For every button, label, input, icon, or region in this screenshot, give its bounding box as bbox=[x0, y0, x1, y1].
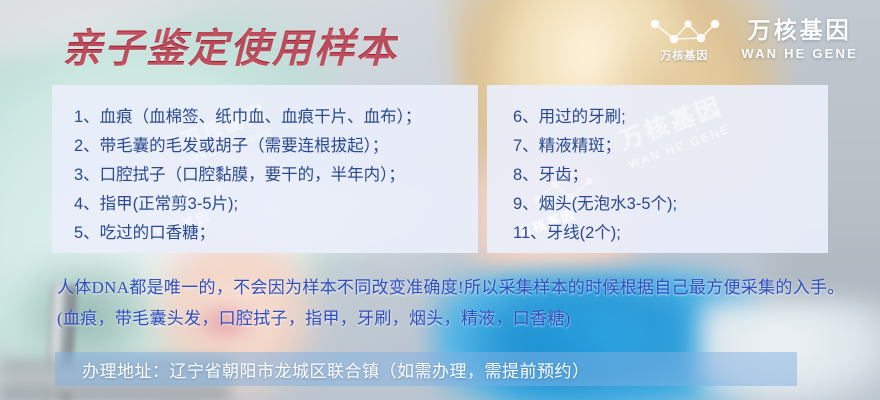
logo-name-cn: 万核基因 bbox=[748, 19, 852, 42]
list-item: 3、口腔拭子（口腔黏膜，要干的，半年内）； bbox=[52, 161, 478, 190]
page-title: 亲子鉴定使用样本 bbox=[62, 16, 398, 74]
address-bar: 办理地址：辽宁省朝阳市龙城区联合镇（如需办理，需提前预约） bbox=[55, 352, 797, 386]
note-paragraph: 人体DNA都是唯一的，不会因为样本不同改变准确度!所以采集样本的时候根据自己最方… bbox=[57, 272, 857, 334]
panel-divider-gap bbox=[478, 85, 487, 253]
list-item: 9、烟头(无泡水3-5个); bbox=[487, 190, 828, 219]
poster-canvas: 亲子鉴定使用样本 万核基因 万核基因 bbox=[0, 0, 880, 400]
sample-panel-left: 万核基因 WAN HE GENE 万核基因 1、血痕（血棉签、纸巾血、血痕干片、… bbox=[52, 85, 478, 253]
list-item: 5、吃过的口香糖； bbox=[52, 219, 478, 248]
sample-list-right: 6、用过的牙刷; 7、精液精斑； 8、牙齿； 9、烟头(无泡水3-5个); 11… bbox=[487, 103, 828, 248]
sample-panels: 万核基因 WAN HE GENE 万核基因 1、血痕（血棉签、纸巾血、血痕干片、… bbox=[52, 85, 828, 253]
logo-name-en: WAN HE GENE bbox=[741, 47, 858, 60]
list-item: 7、精液精斑； bbox=[487, 132, 828, 161]
list-item: 11、牙线(2个); bbox=[487, 219, 828, 248]
sample-panel-right: 万核基因 WAN HE GENE 万核基因 6、用过的牙刷; 7、精液精斑； 8… bbox=[487, 85, 828, 253]
list-item: 1、血痕（血棉签、纸巾血、血痕干片、血布）； bbox=[52, 103, 478, 132]
list-item: 2、带毛囊的毛发或胡子（需要连根拔起）； bbox=[52, 132, 478, 161]
brand-logo: 万核基因 万核基因 WAN HE GENE bbox=[641, 16, 858, 62]
logo-mark: 万核基因 bbox=[641, 16, 727, 62]
sample-list-left: 1、血痕（血棉签、纸巾血、血痕干片、血布）； 2、带毛囊的毛发或胡子（需要连根拔… bbox=[52, 103, 478, 248]
logo-mark-label: 万核基因 bbox=[645, 47, 723, 63]
address-text: 办理地址：辽宁省朝阳市龙城区联合镇（如需办理，需提前预约） bbox=[55, 357, 590, 382]
list-item: 8、牙齿； bbox=[487, 161, 828, 190]
logo-text: 万核基因 WAN HE GENE bbox=[741, 19, 858, 60]
list-item: 6、用过的牙刷; bbox=[487, 103, 828, 132]
list-item: 4、指甲(正常剪3-5片); bbox=[52, 190, 478, 219]
